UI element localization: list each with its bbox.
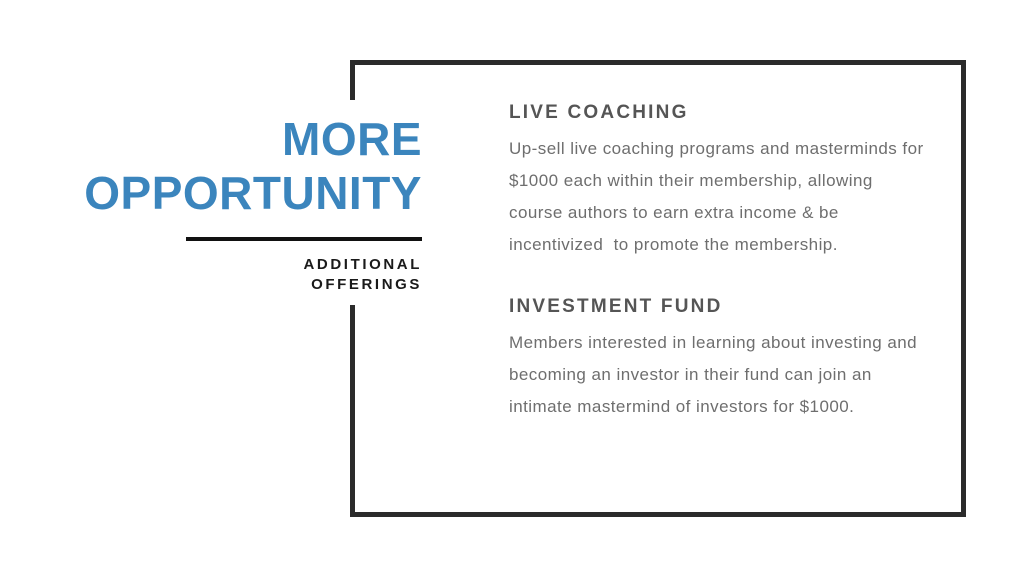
subtitle-line-1: ADDITIONAL — [60, 255, 422, 275]
page-title-line-2: OPPORTUNITY — [60, 166, 422, 220]
section-body: Members interested in learning about inv… — [509, 327, 929, 423]
subtitle-block: ADDITIONAL OFFERINGS — [60, 255, 422, 295]
section-investment-fund: INVESTMENT FUND Members interested in le… — [509, 295, 929, 423]
subtitle-line-2: OFFERINGS — [60, 275, 422, 295]
sections-list: LIVE COACHING Up-sell live coaching prog… — [509, 101, 929, 423]
section-live-coaching: LIVE COACHING Up-sell live coaching prog… — [509, 101, 929, 261]
section-body: Up-sell live coaching programs and maste… — [509, 133, 929, 261]
title-block: MORE OPPORTUNITY ADDITIONAL OFFERINGS — [60, 112, 422, 295]
title-divider-rule — [186, 237, 422, 241]
section-heading: INVESTMENT FUND — [509, 295, 929, 319]
page-title-line-1: MORE — [60, 112, 422, 166]
slide-canvas: MORE OPPORTUNITY ADDITIONAL OFFERINGS LI… — [0, 0, 1024, 576]
section-heading: LIVE COACHING — [509, 101, 929, 125]
